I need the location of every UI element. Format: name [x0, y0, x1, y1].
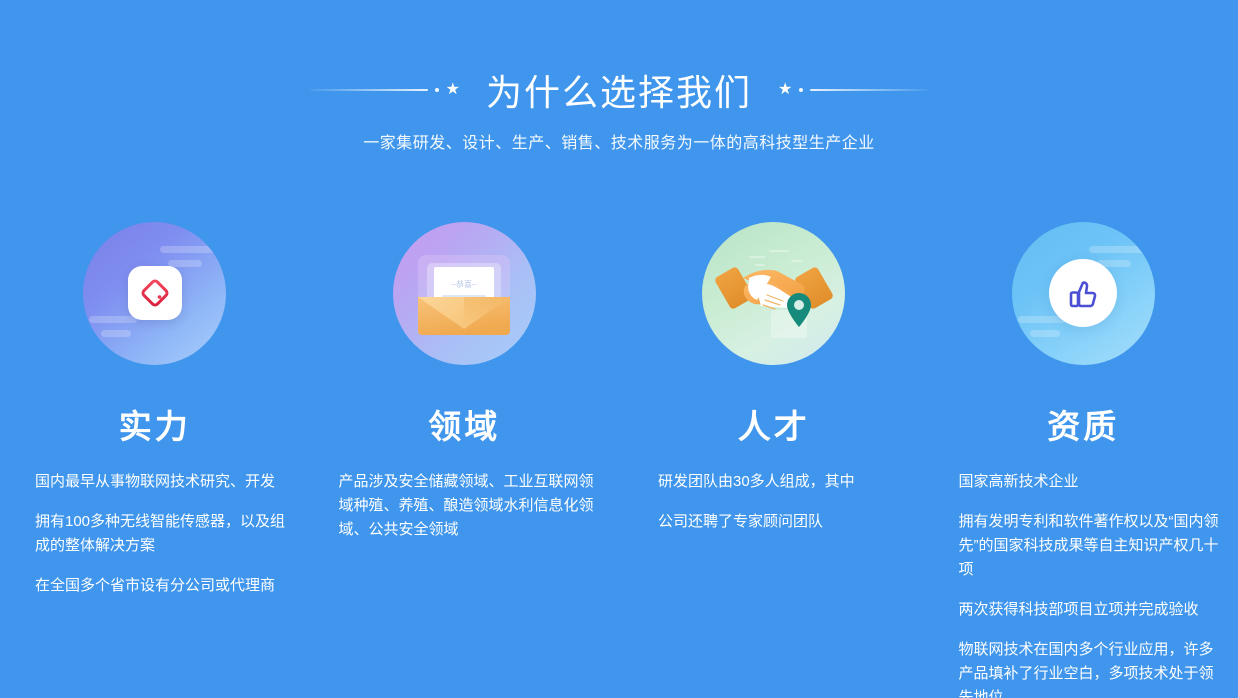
feature-column-qualification: 资质 国家高新技术企业 拥有发明专利和软件著作权以及“国内领先”的国家科技成果等… [929, 198, 1238, 698]
feature-columns: 实力 国内最早从事物联网技术研究、开发 拥有100多种无线智能传感器，以及组成的… [0, 198, 1238, 698]
list-item: 公司还聘了专家顾问团队 [658, 510, 909, 534]
column-title-strength: 实力 [16, 400, 294, 448]
icon-wrap-qualification [945, 198, 1223, 388]
star-icon-left: ★ [446, 82, 460, 98]
feature-column-strength: 实力 国内最早从事物联网技术研究、开发 拥有100多种无线智能传感器，以及组成的… [0, 198, 310, 698]
column-title-talent: 人才 [635, 400, 913, 448]
column-list-qualification: 国家高新技术企业 拥有发明专利和软件著作权以及“国内领先”的国家科技成果等自主知… [945, 470, 1223, 698]
column-title-qualification: 资质 [945, 400, 1223, 448]
icon-circle-qualification [1012, 222, 1155, 365]
page-title: 为什么选择我们 [486, 64, 752, 116]
decoration-dot-right [799, 88, 803, 92]
list-item: 拥有发明专利和软件著作权以及“国内领先”的国家科技成果等自主知识产权几十项 [959, 510, 1221, 582]
column-list-domain: 产品涉及安全储藏领域、工业互联网领域种殖、养殖、酿造领域水利信息化领域、公共安全… [326, 470, 604, 542]
why-choose-us-section: ★ 为什么选择我们 ★ 一家集研发、设计、生产、销售、技术服务为一体的高科技型生… [0, 0, 1238, 698]
feature-column-talent: 人才 研发团队由30多人组成，其中 公司还聘了专家顾问团队 [619, 198, 929, 698]
list-item: 物联网技术在国内多个行业应用，许多产品填补了行业空白，多项技术处于领先地位 [959, 638, 1221, 698]
decoration-line-right [810, 89, 928, 91]
icon-wrap-strength [16, 198, 294, 388]
list-item: 国内最早从事物联网技术研究、开发 [35, 470, 290, 494]
list-item: 研发团队由30多人组成，其中 [658, 470, 909, 494]
feature-column-domain: –恭喜– 领域 产品涉及安全储藏领域、工业互联网领域种殖、养殖、酿造领域水利信息… [310, 198, 620, 698]
list-item: 在全国多个省市设有分公司或代理商 [35, 574, 290, 598]
column-list-strength: 国内最早从事物联网技术研究、开发 拥有100多种无线智能传感器，以及组成的整体解… [16, 470, 294, 598]
column-list-talent: 研发团队由30多人组成，其中 公司还聘了专家顾问团队 [635, 470, 913, 534]
list-item: 两次获得科技部项目立项并完成验收 [959, 598, 1221, 622]
diamond-badge-icon [128, 266, 182, 320]
icon-wrap-domain: –恭喜– [326, 198, 604, 388]
title-decoration-left: ★ [310, 82, 460, 98]
column-title-domain: 领域 [326, 400, 604, 448]
thumbs-up-icon [1049, 259, 1117, 327]
title-row: ★ 为什么选择我们 ★ [0, 62, 1238, 118]
title-decoration-right: ★ [778, 82, 928, 98]
handshake-location-icon [709, 238, 839, 348]
list-item: 产品涉及安全储藏领域、工业互联网领域种殖、养殖、酿造领域水利信息化领域、公共安全… [339, 470, 602, 542]
icon-wrap-talent [635, 198, 913, 388]
icon-circle-strength [83, 222, 226, 365]
icon-circle-talent [702, 222, 845, 365]
envelope-certificate-icon: –恭喜– [402, 241, 526, 345]
icon-circle-domain: –恭喜– [393, 222, 536, 365]
page-subtitle: 一家集研发、设计、生产、销售、技术服务为一体的高科技型生产企业 [0, 129, 1238, 153]
svg-text:–恭喜–: –恭喜– [452, 279, 477, 289]
star-icon-right: ★ [778, 82, 792, 98]
list-item: 国家高新技术企业 [959, 470, 1221, 494]
decoration-dot-left [435, 88, 439, 92]
decoration-line-left [310, 89, 428, 91]
list-item: 拥有100多种无线智能传感器，以及组成的整体解决方案 [35, 510, 290, 558]
